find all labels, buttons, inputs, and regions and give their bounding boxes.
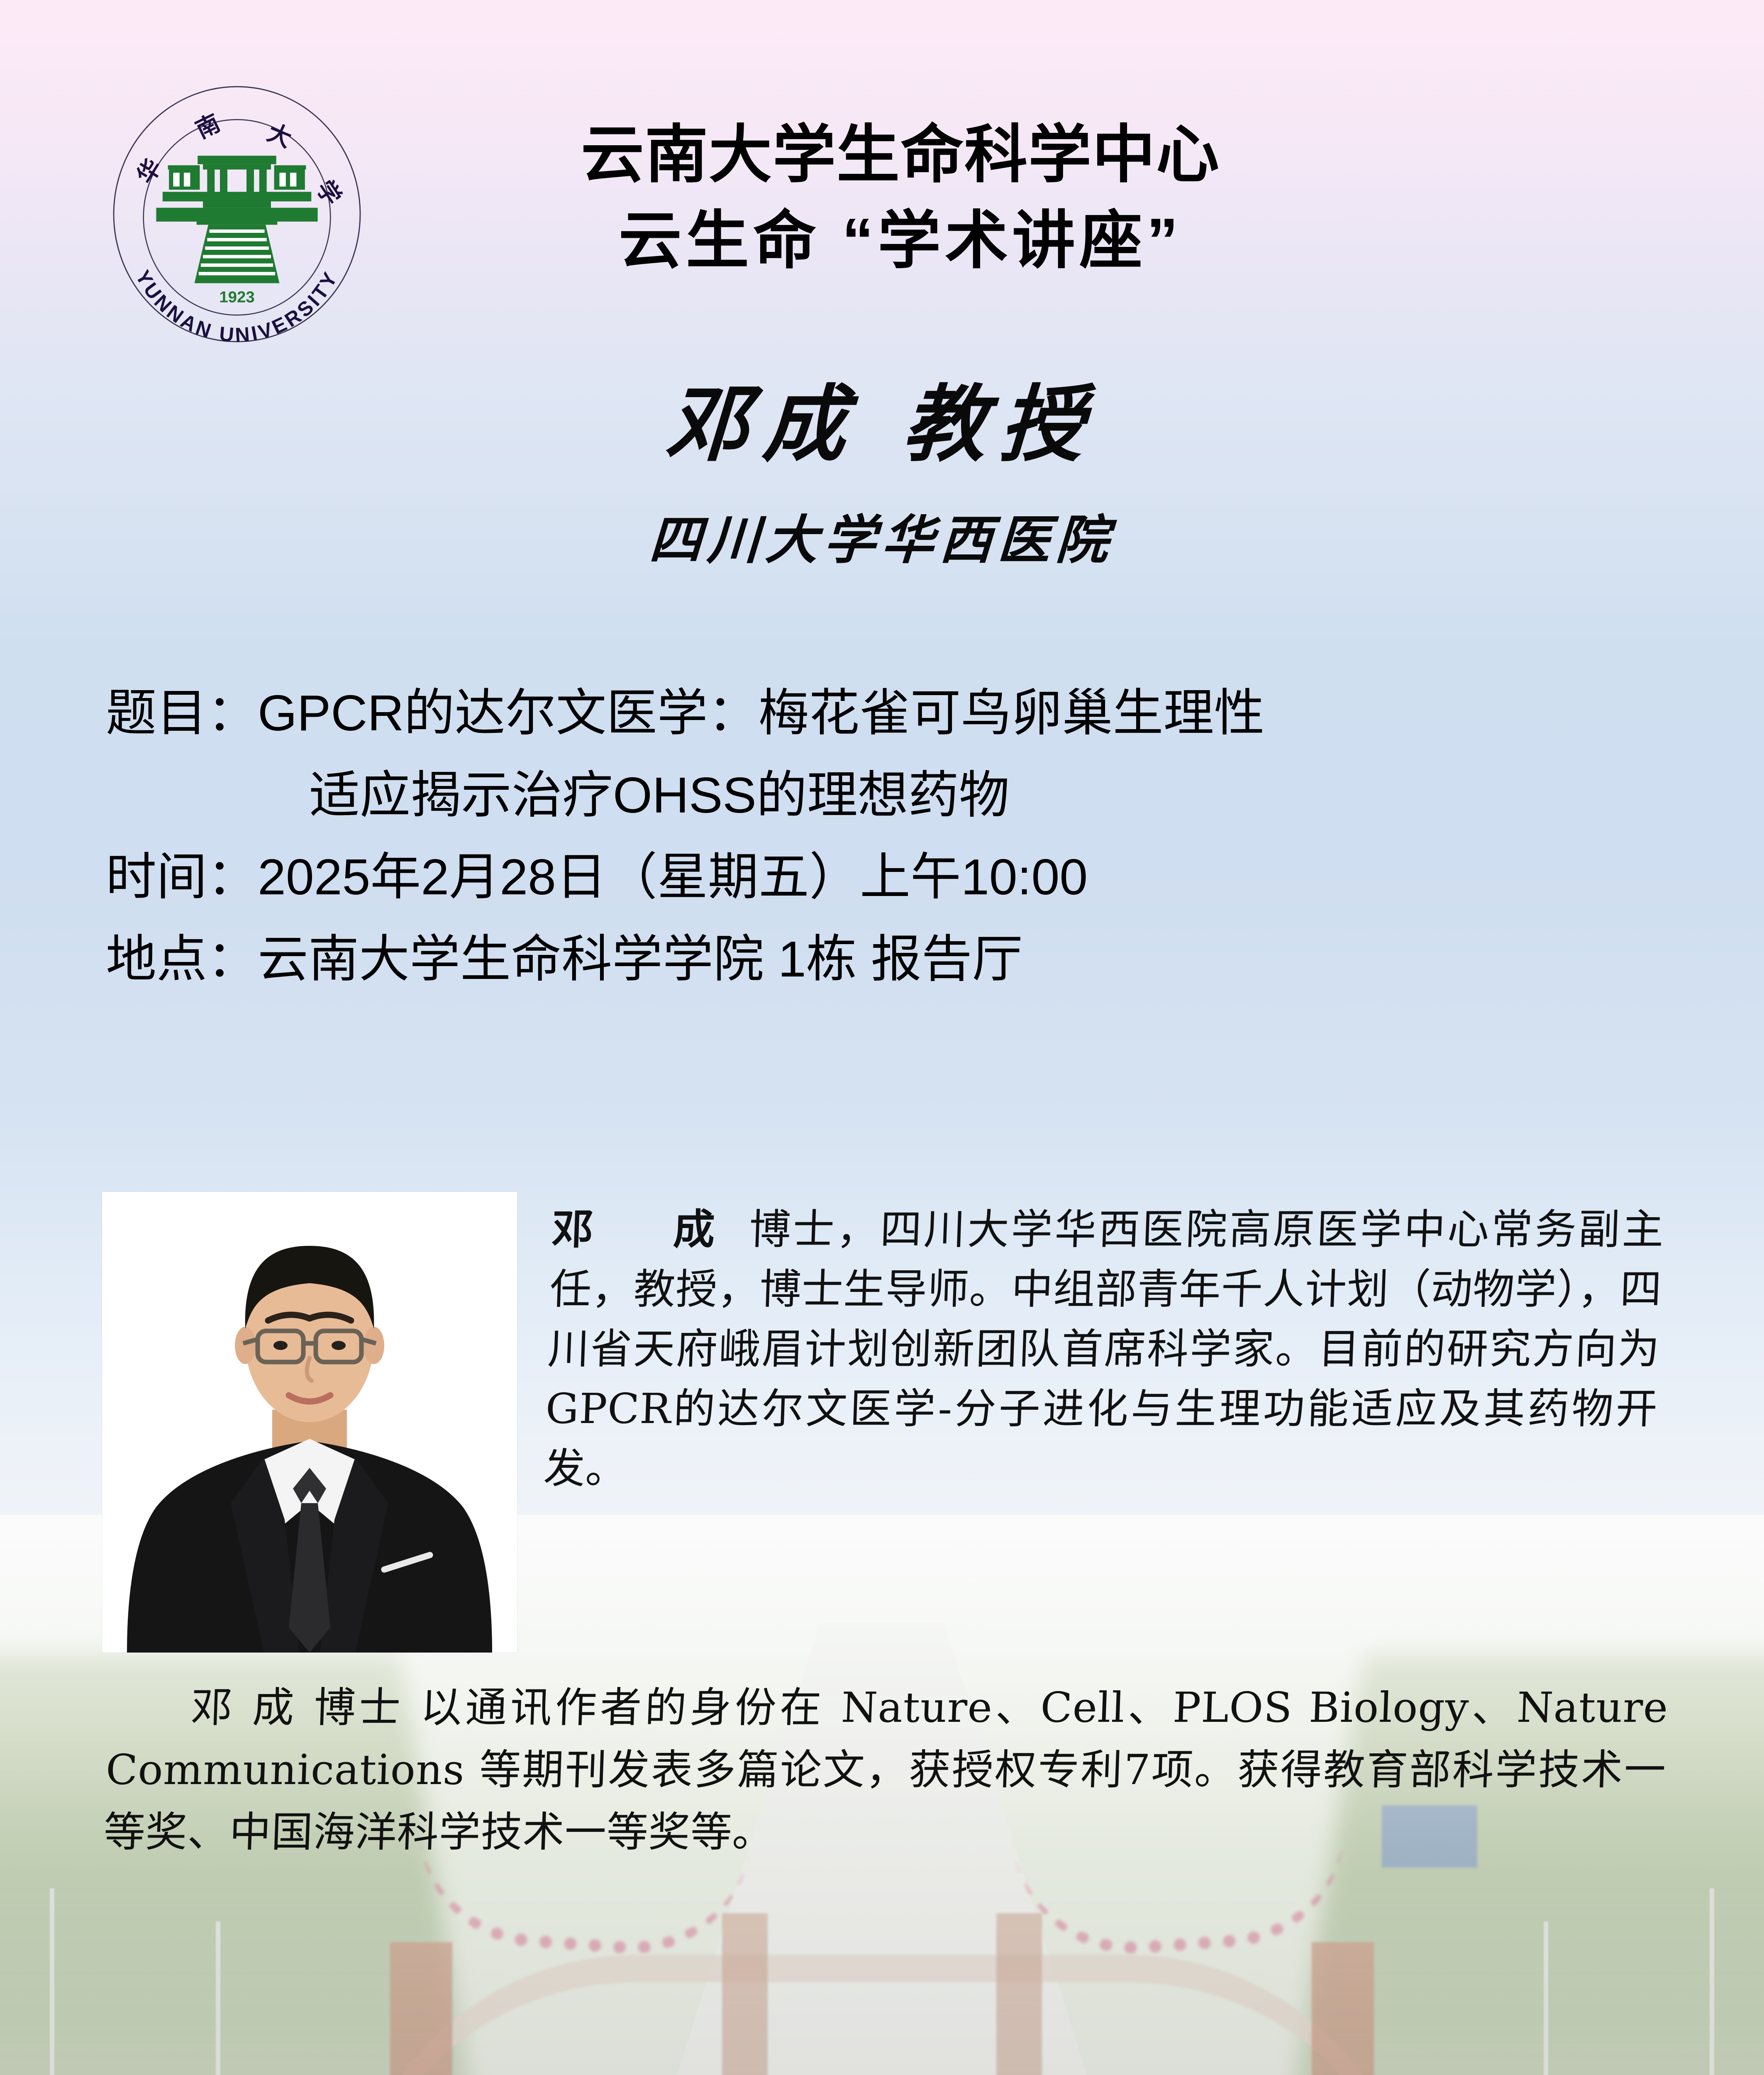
place-label: 地点： <box>106 931 258 987</box>
svg-text:学: 学 <box>311 176 346 210</box>
header-line-2: 云生命 “学术讲座” <box>465 198 1336 284</box>
event-details: 题目：GPCR的达尔文医学：梅花雀可鸟卵巢生理性 适应揭示治疗OHSS的理想药物… <box>106 672 1658 1001</box>
time-label: 时间： <box>106 849 258 905</box>
bio-name: 邓 成 <box>551 1205 735 1254</box>
speaker-name: 邓成 教授 <box>0 357 1764 477</box>
detail-row-place: 地点：云南大学生命科学学院 1栋 报告厅 <box>106 918 1658 1001</box>
speaker-bio-paragraph-1: 邓 成 博士，四川大学华西医院高原医学中心常务副主任，教授，博士生导师。中组部青… <box>542 1199 1665 1499</box>
topic-line-1: GPCR的达尔文医学：梅花雀可鸟卵巢生理性 <box>258 685 1264 741</box>
poster-header: 云南大学生命科学中心 云生命 “学术讲座” <box>465 112 1336 283</box>
speaker-portrait-photo <box>102 1192 517 1653</box>
detail-row-time: 时间：2025年2月28日（星期五）上午10:00 <box>106 836 1658 918</box>
detail-row-topic: 题目：GPCR的达尔文医学：梅花雀可鸟卵巢生理性 <box>106 672 1658 754</box>
logo-founded-year: 1923 <box>219 288 254 306</box>
poster-canvas: 1923 华 南 大 学 YUNNAN UNIVERSITY 云南大学生命科 <box>0 0 1764 2075</box>
speaker-bio-paragraph-2: 邓 成 博士 以通讯作者的身份在 Nature、Cell、PLOS Biolog… <box>102 1677 1669 1863</box>
yunnan-university-logo: 1923 华 南 大 学 YUNNAN UNIVERSITY <box>77 81 397 347</box>
detail-row-topic-cont: 适应揭示治疗OHSS的理想药物 <box>106 754 1658 837</box>
time-value: 2025年2月28日（星期五）上午10:00 <box>258 849 1088 905</box>
speaker-affiliation: 四川大学华西医院 <box>0 498 1764 574</box>
topic-line-2: 适应揭示治疗OHSS的理想药物 <box>309 767 1010 823</box>
header-line-1: 云南大学生命科学中心 <box>465 112 1336 198</box>
place-value: 云南大学生命科学学院 1栋 报告厅 <box>258 931 1023 987</box>
topic-label: 题目： <box>106 685 258 741</box>
svg-text:大: 大 <box>264 119 295 153</box>
svg-text:南: 南 <box>191 109 224 144</box>
